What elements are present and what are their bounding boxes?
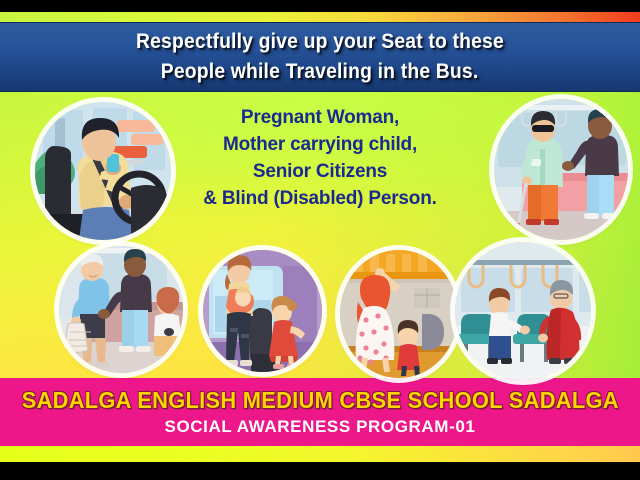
header-line-1: Respectfully give up your Seat to these xyxy=(136,27,504,57)
program-name: SOCIAL AWARENESS PROGRAM-01 xyxy=(165,415,476,439)
blind-person-illustration xyxy=(494,99,628,240)
senior-citizen-illustration xyxy=(59,246,183,373)
header-line-2: People while Traveling in the Bus. xyxy=(161,57,479,87)
headline-line-2: Mother carrying child, xyxy=(150,131,490,158)
letterbox-bottom-bar xyxy=(0,462,640,480)
headline-line-1: Pregnant Woman, xyxy=(150,104,490,131)
top-accent-strip xyxy=(0,12,640,22)
school-banner: SADALGA ENGLISH MEDIUM CBSE SCHOOL SADAL… xyxy=(0,378,640,446)
elderly-woman-illustration xyxy=(455,242,591,380)
letterbox-top-bar xyxy=(0,0,640,12)
school-name: SADALGA ENGLISH MEDIUM CBSE SCHOOL SADAL… xyxy=(21,385,618,415)
bottom-accent-strip xyxy=(0,446,640,462)
pregnant-woman-illustration xyxy=(340,250,458,378)
awareness-poster: Respectfully give up your Seat to these … xyxy=(0,0,640,480)
headline-text-block: Pregnant Woman, Mother carrying child, S… xyxy=(150,104,490,212)
mother-with-child-illustration xyxy=(203,250,322,372)
header-banner: Respectfully give up your Seat to these … xyxy=(0,22,640,92)
headline-line-4: & Blind (Disabled) Person. xyxy=(150,185,490,212)
headline-line-3: Senior Citizens xyxy=(150,158,490,185)
